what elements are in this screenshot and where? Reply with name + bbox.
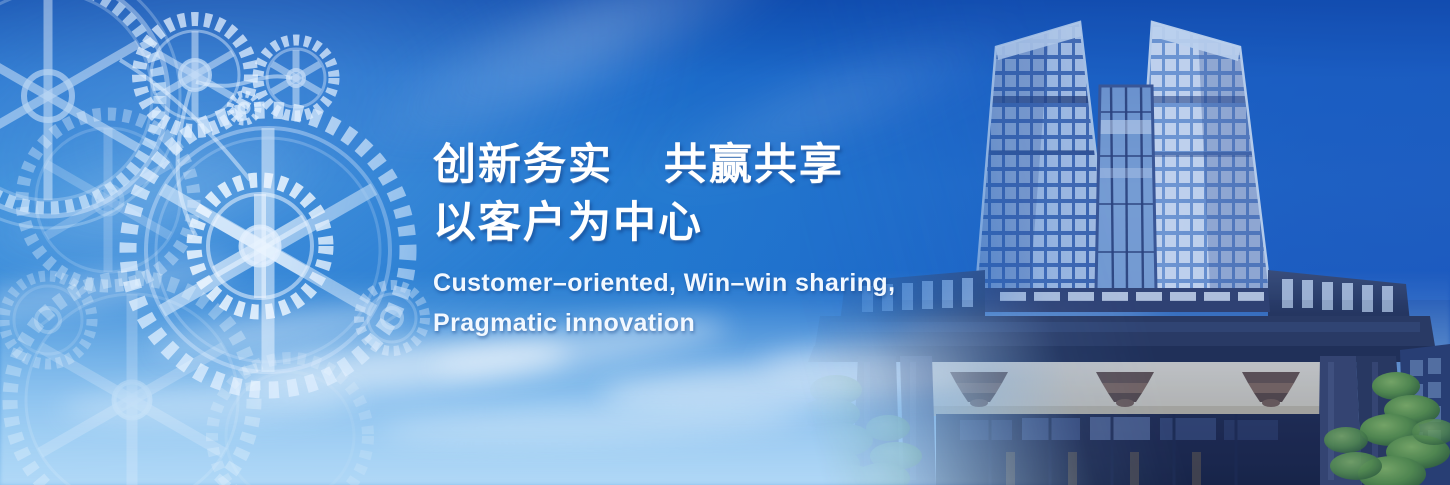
headline-line-1: 创新务实 共赢共享 [433, 136, 993, 194]
gear-inner-center [194, 180, 326, 312]
subheadline-line-1: Customer–oriented, Win–win sharing, [433, 263, 993, 303]
subheadline-line-2: Pragmatic innovation [433, 303, 993, 343]
hero-banner: 创新务实 共赢共享 以客户为中心 Customer–oriented, Win–… [0, 0, 1450, 485]
banner-copy: 创新务实 共赢共享 以客户为中心 Customer–oriented, Win–… [433, 136, 993, 343]
headline-line-2: 以客户为中心 [433, 194, 993, 252]
gear-small-right-lower [359, 285, 425, 351]
